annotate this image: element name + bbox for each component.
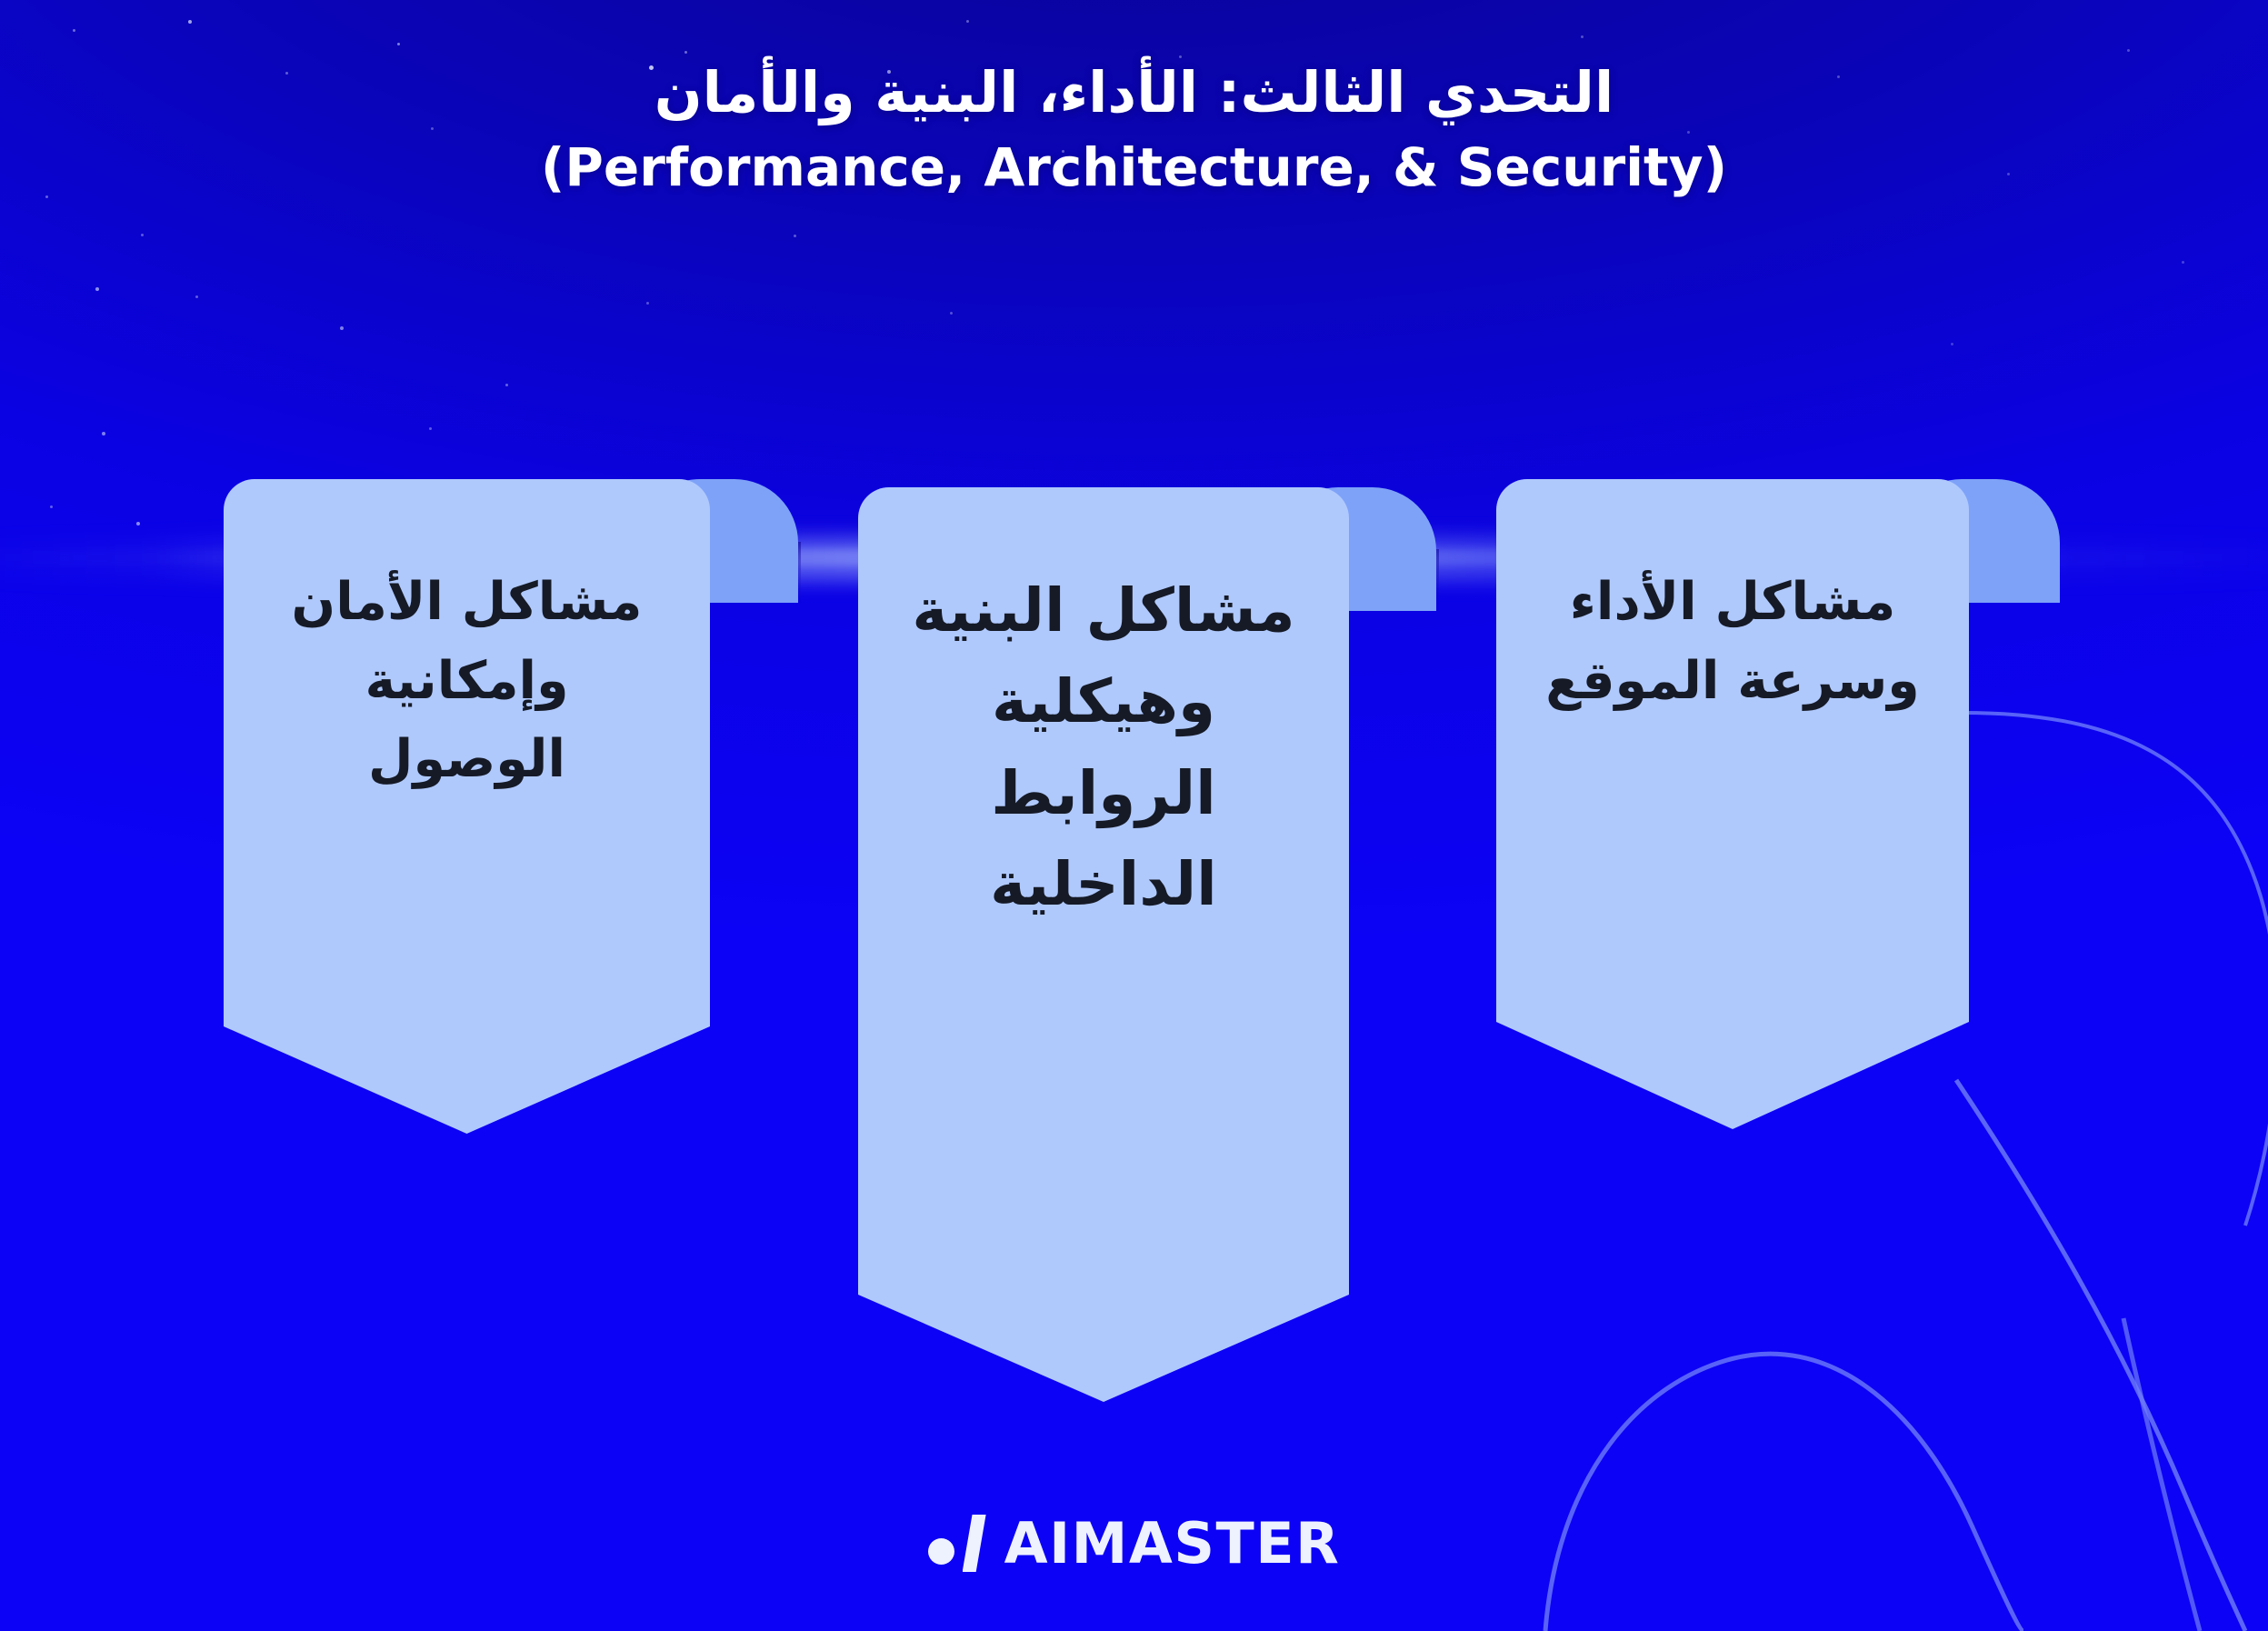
brand-name: AIMASTER — [1004, 1510, 1341, 1576]
banner-security[interactable]: مشاكل الأمان وإمكانية الوصول — [224, 479, 710, 1134]
banner-performance[interactable]: مشاكل الأداء وسرعة الموقع — [1496, 479, 1969, 1129]
banner-performance-label: مشاكل الأداء وسرعة الموقع — [1534, 479, 1932, 720]
banner-architecture[interactable]: مشاكل البنية وهيكلية الروابط الداخلية — [858, 487, 1349, 1402]
poster-canvas: التحدي الثالث: الأداء، البنية والأمان (P… — [0, 0, 2268, 1631]
banner-architecture-label: مشاكل البنية وهيكلية الروابط الداخلية — [897, 487, 1310, 930]
dot-icon — [928, 1538, 954, 1565]
logo-mark — [928, 1515, 986, 1572]
banner-group: مشاكل الأمان وإمكانية الوصول مشاكل البني… — [0, 0, 2268, 1631]
slash-bar-icon — [963, 1515, 986, 1572]
brand-logo: AIMASTER — [0, 1510, 2268, 1576]
banner-security-label: مشاكل الأمان وإمكانية الوصول — [263, 479, 671, 799]
